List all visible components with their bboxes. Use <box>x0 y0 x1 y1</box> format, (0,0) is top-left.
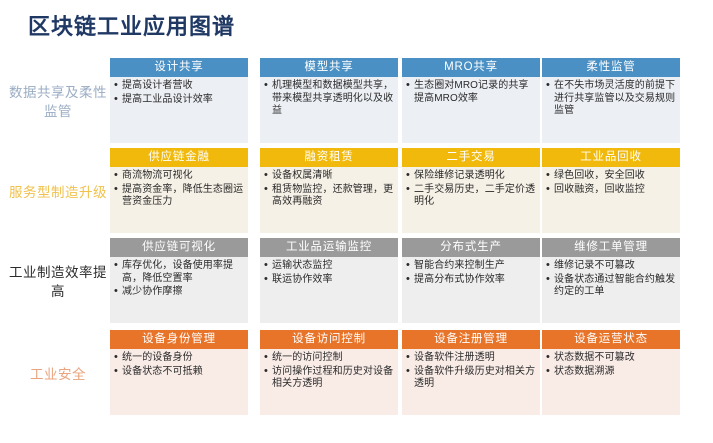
card-bullet: 二手交易历史，二手定价透明化 <box>406 184 537 209</box>
card-body: 绿色回收，安全回收 回收融资，回收监控 <box>542 167 680 233</box>
card-bullet: 设备权属清晰 <box>264 170 395 183</box>
card-body: 智能合约来控制生产 提高分布式协作效率 <box>402 257 540 323</box>
card-flexible-regulation[interactable]: 柔性监管 在不失市场灵活度的前提下进行共享监管以及交易规则监管 <box>542 58 680 143</box>
card-header: 设计共享 <box>110 58 248 77</box>
card-bullet: 库存优化，设备使用率提高，降低空置率 <box>114 260 245 285</box>
card-bullet: 租赁物监控，还款管理，更高效再融资 <box>264 184 395 209</box>
card-supply-chain-finance[interactable]: 供应链金融 商流物流可视化 提高资金率，降低生态圈运营资金压力 <box>110 148 248 233</box>
card-bullet: 设备状态不可抵赖 <box>114 366 245 379</box>
card-body: 库存优化，设备使用率提高，降低空置率 减少协作摩擦 <box>110 257 248 323</box>
card-bullet: 商流物流可视化 <box>114 170 245 183</box>
card-body: 生态圈对MRO记录的共享提高MRO效率 <box>402 77 540 143</box>
matrix-row-manufacturing-efficiency: 工业制造效率提高 供应链可视化 库存优化，设备使用率提高，降低空置率 减少协作摩… <box>0 238 713 326</box>
card-header: 融资租赁 <box>260 148 398 167</box>
card-header: 工业品运输监控 <box>260 238 398 257</box>
card-header: 设备身份管理 <box>110 330 248 349</box>
card-header: 模型共享 <box>260 58 398 77</box>
card-body: 统一的设备身份 设备状态不可抵赖 <box>110 349 248 415</box>
row-cards: 供应链可视化 库存优化，设备使用率提高，降低空置率 减少协作摩擦 工业品运输监控… <box>110 238 705 326</box>
matrix-row-service-manufacturing: 服务型制造升级 供应链金融 商流物流可视化 提高资金率，降低生态圈运营资金压力 … <box>0 148 713 236</box>
card-header: 维修工单管理 <box>542 238 680 257</box>
card-header: 供应链可视化 <box>110 238 248 257</box>
card-bullet: 提高设计者营收 <box>114 80 245 93</box>
row-cards: 设计共享 提高设计者营收 提高工业品设计效率 模型共享 机理模型和数据模型共享，… <box>110 58 705 146</box>
row-label-data-sharing: 数据共享及柔性监管 <box>8 58 108 146</box>
card-header: 分布式生产 <box>402 238 540 257</box>
card-bullet: 保险维修记录透明化 <box>406 170 537 183</box>
card-bullet: 提高资金率，降低生态圈运营资金压力 <box>114 184 245 209</box>
matrix-row-industrial-security: 工业安全 设备身份管理 统一的设备身份 设备状态不可抵赖 设备访问控制 <box>0 330 713 418</box>
page-title: 区块链工业应用图谱 <box>28 12 235 42</box>
card-model-sharing[interactable]: 模型共享 机理模型和数据模型共享，带来模型共享透明化以及收益 <box>260 58 398 143</box>
card-device-identity[interactable]: 设备身份管理 统一的设备身份 设备状态不可抵赖 <box>110 330 248 415</box>
card-maintenance-work-order[interactable]: 维修工单管理 维修记录不可篡改 设备状态通过智能合约触发约定的工单 <box>542 238 680 323</box>
card-body: 设备软件注册透明 设备软件升级历史对相关方透明 <box>402 349 540 415</box>
row-label-manufacturing-efficiency: 工业制造效率提高 <box>8 238 108 326</box>
card-bullet: 回收融资，回收监控 <box>546 184 677 197</box>
card-bullet: 减少协作摩擦 <box>114 286 245 299</box>
row-label-industrial-security: 工业安全 <box>8 330 108 418</box>
card-bullet: 机理模型和数据模型共享，带来模型共享透明化以及收益 <box>264 80 395 118</box>
card-bullet: 状态数据不可篡改 <box>546 352 677 365</box>
card-body: 运输状态监控 联运协作效率 <box>260 257 398 323</box>
card-bullet: 维修记录不可篡改 <box>546 260 677 273</box>
card-bullet: 设备状态通过智能合约触发约定的工单 <box>546 274 677 299</box>
row-cards: 供应链金融 商流物流可视化 提高资金率，降低生态圈运营资金压力 融资租赁 设备权… <box>110 148 705 236</box>
row-cards: 设备身份管理 统一的设备身份 设备状态不可抵赖 设备访问控制 统一的访问控制 访… <box>110 330 705 418</box>
card-financial-leasing[interactable]: 融资租赁 设备权属清晰 租赁物监控，还款管理，更高效再融资 <box>260 148 398 233</box>
card-bullet: 联运协作效率 <box>264 274 395 287</box>
card-bullet: 统一的访问控制 <box>264 352 395 365</box>
card-header: 二手交易 <box>402 148 540 167</box>
card-second-hand-trading[interactable]: 二手交易 保险维修记录透明化 二手交易历史，二手定价透明化 <box>402 148 540 233</box>
card-header: 供应链金融 <box>110 148 248 167</box>
card-body: 在不失市场灵活度的前提下进行共享监管以及交易规则监管 <box>542 77 680 143</box>
card-bullet: 智能合约来控制生产 <box>406 260 537 273</box>
card-device-registration[interactable]: 设备注册管理 设备软件注册透明 设备软件升级历史对相关方透明 <box>402 330 540 415</box>
card-device-access-control[interactable]: 设备访问控制 统一的访问控制 访问操作过程和历史对设备相关方透明 <box>260 330 398 415</box>
card-distributed-production[interactable]: 分布式生产 智能合约来控制生产 提高分布式协作效率 <box>402 238 540 323</box>
card-industrial-recycling[interactable]: 工业品回收 绿色回收，安全回收 回收融资，回收监控 <box>542 148 680 233</box>
card-bullet: 状态数据溯源 <box>546 366 677 379</box>
card-body: 提高设计者营收 提高工业品设计效率 <box>110 77 248 143</box>
blockchain-industrial-application-map: 区块链工业应用图谱 数据共享及柔性监管 设计共享 提高设计者营收 提高工业品设计… <box>0 0 713 443</box>
card-header: 工业品回收 <box>542 148 680 167</box>
card-body: 维修记录不可篡改 设备状态通过智能合约触发约定的工单 <box>542 257 680 323</box>
card-header: 设备运营状态 <box>542 330 680 349</box>
card-bullet: 统一的设备身份 <box>114 352 245 365</box>
card-bullet: 在不失市场灵活度的前提下进行共享监管以及交易规则监管 <box>546 80 677 118</box>
card-transport-monitoring[interactable]: 工业品运输监控 运输状态监控 联运协作效率 <box>260 238 398 323</box>
card-header: 柔性监管 <box>542 58 680 77</box>
card-bullet: 绿色回收，安全回收 <box>546 170 677 183</box>
card-body: 保险维修记录透明化 二手交易历史，二手定价透明化 <box>402 167 540 233</box>
card-body: 商流物流可视化 提高资金率，降低生态圈运营资金压力 <box>110 167 248 233</box>
row-label-service-manufacturing: 服务型制造升级 <box>8 148 108 236</box>
card-supply-chain-visibility[interactable]: 供应链可视化 库存优化，设备使用率提高，降低空置率 减少协作摩擦 <box>110 238 248 323</box>
card-body: 状态数据不可篡改 状态数据溯源 <box>542 349 680 415</box>
card-header: 设备访问控制 <box>260 330 398 349</box>
card-device-operating-status[interactable]: 设备运营状态 状态数据不可篡改 状态数据溯源 <box>542 330 680 415</box>
card-bullet: 生态圈对MRO记录的共享提高MRO效率 <box>406 80 537 105</box>
card-bullet: 访问操作过程和历史对设备相关方透明 <box>264 366 395 391</box>
matrix-grid: 数据共享及柔性监管 设计共享 提高设计者营收 提高工业品设计效率 模型共享 <box>0 56 713 443</box>
matrix-row-data-sharing: 数据共享及柔性监管 设计共享 提高设计者营收 提高工业品设计效率 模型共享 <box>0 58 713 146</box>
card-header: MRO共享 <box>402 58 540 77</box>
card-mro-sharing[interactable]: MRO共享 生态圈对MRO记录的共享提高MRO效率 <box>402 58 540 143</box>
card-bullet: 设备软件升级历史对相关方透明 <box>406 366 537 391</box>
card-design-sharing[interactable]: 设计共享 提高设计者营收 提高工业品设计效率 <box>110 58 248 143</box>
card-bullet: 运输状态监控 <box>264 260 395 273</box>
card-header: 设备注册管理 <box>402 330 540 349</box>
card-body: 机理模型和数据模型共享，带来模型共享透明化以及收益 <box>260 77 398 143</box>
card-bullet: 提高分布式协作效率 <box>406 274 537 287</box>
card-body: 统一的访问控制 访问操作过程和历史对设备相关方透明 <box>260 349 398 415</box>
card-bullet: 设备软件注册透明 <box>406 352 537 365</box>
card-body: 设备权属清晰 租赁物监控，还款管理，更高效再融资 <box>260 167 398 233</box>
card-bullet: 提高工业品设计效率 <box>114 94 245 107</box>
